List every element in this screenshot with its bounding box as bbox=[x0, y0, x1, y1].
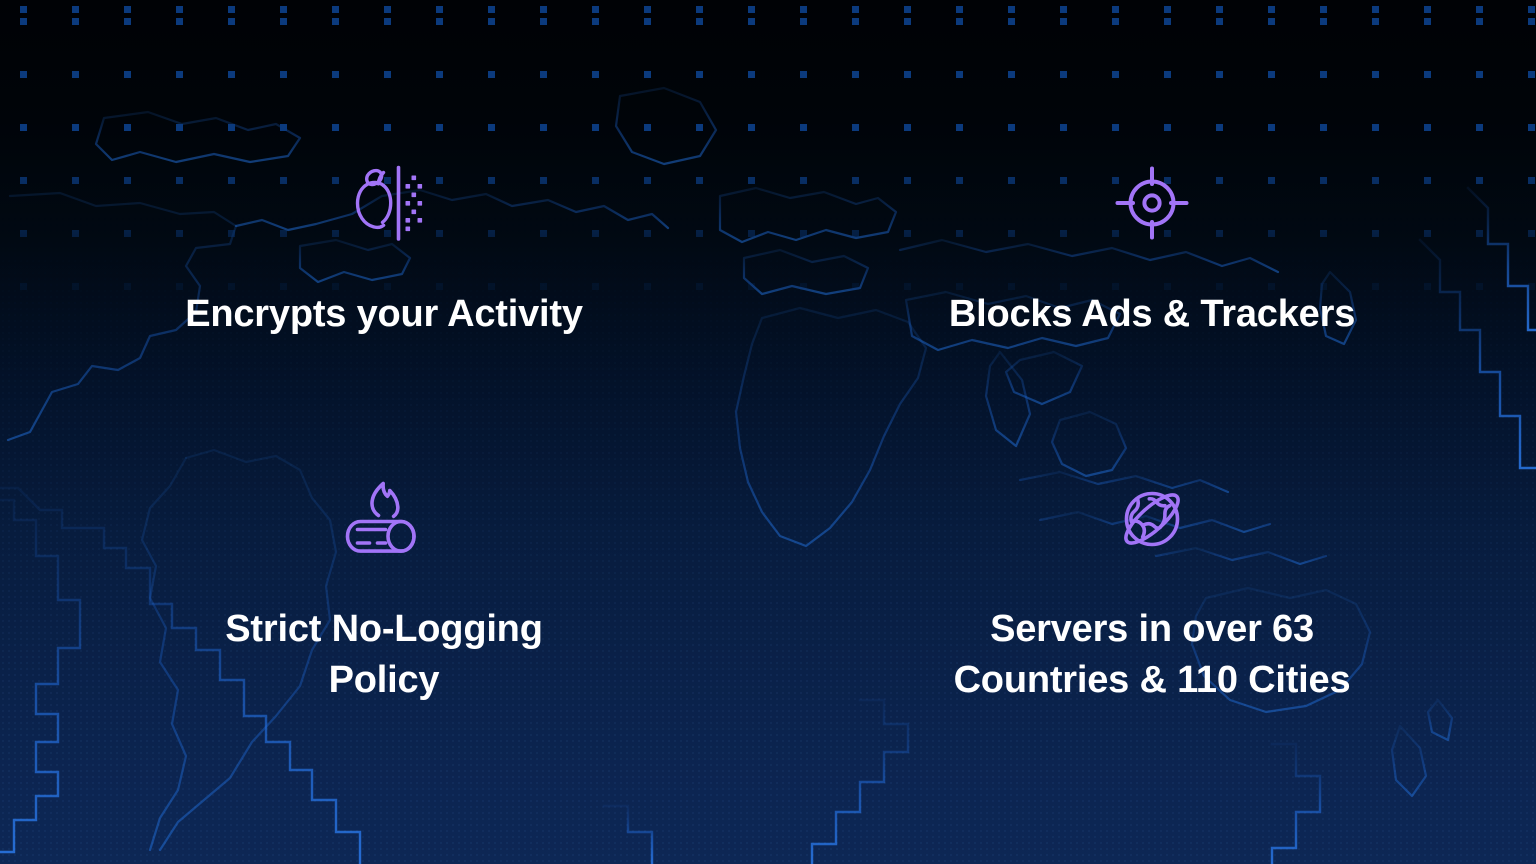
feature-highlights-panel: Encrypts your Activity Blocks Ads & Trac… bbox=[0, 0, 1536, 864]
feature-card-servers-countries-cities: Servers in over 63 Countries & 110 Citie… bbox=[768, 412, 1536, 864]
crosshair-target-icon bbox=[1111, 162, 1193, 244]
feature-card-encrypts-activity: Encrypts your Activity bbox=[0, 0, 768, 412]
feature-title: Strict No-Logging Policy bbox=[225, 604, 542, 705]
encryption-pixelate-icon bbox=[343, 162, 425, 244]
feature-card-blocks-ads-trackers: Blocks Ads & Trackers bbox=[768, 0, 1536, 412]
globe-orbit-icon bbox=[1111, 478, 1193, 560]
burning-log-icon bbox=[343, 478, 425, 560]
feature-title: Servers in over 63 Countries & 110 Citie… bbox=[954, 604, 1351, 705]
feature-title: Encrypts your Activity bbox=[185, 289, 583, 340]
feature-title: Blocks Ads & Trackers bbox=[949, 289, 1355, 340]
feature-card-no-logging-policy: Strict No-Logging Policy bbox=[0, 412, 768, 864]
features-grid: Encrypts your Activity Blocks Ads & Trac… bbox=[0, 0, 1536, 864]
